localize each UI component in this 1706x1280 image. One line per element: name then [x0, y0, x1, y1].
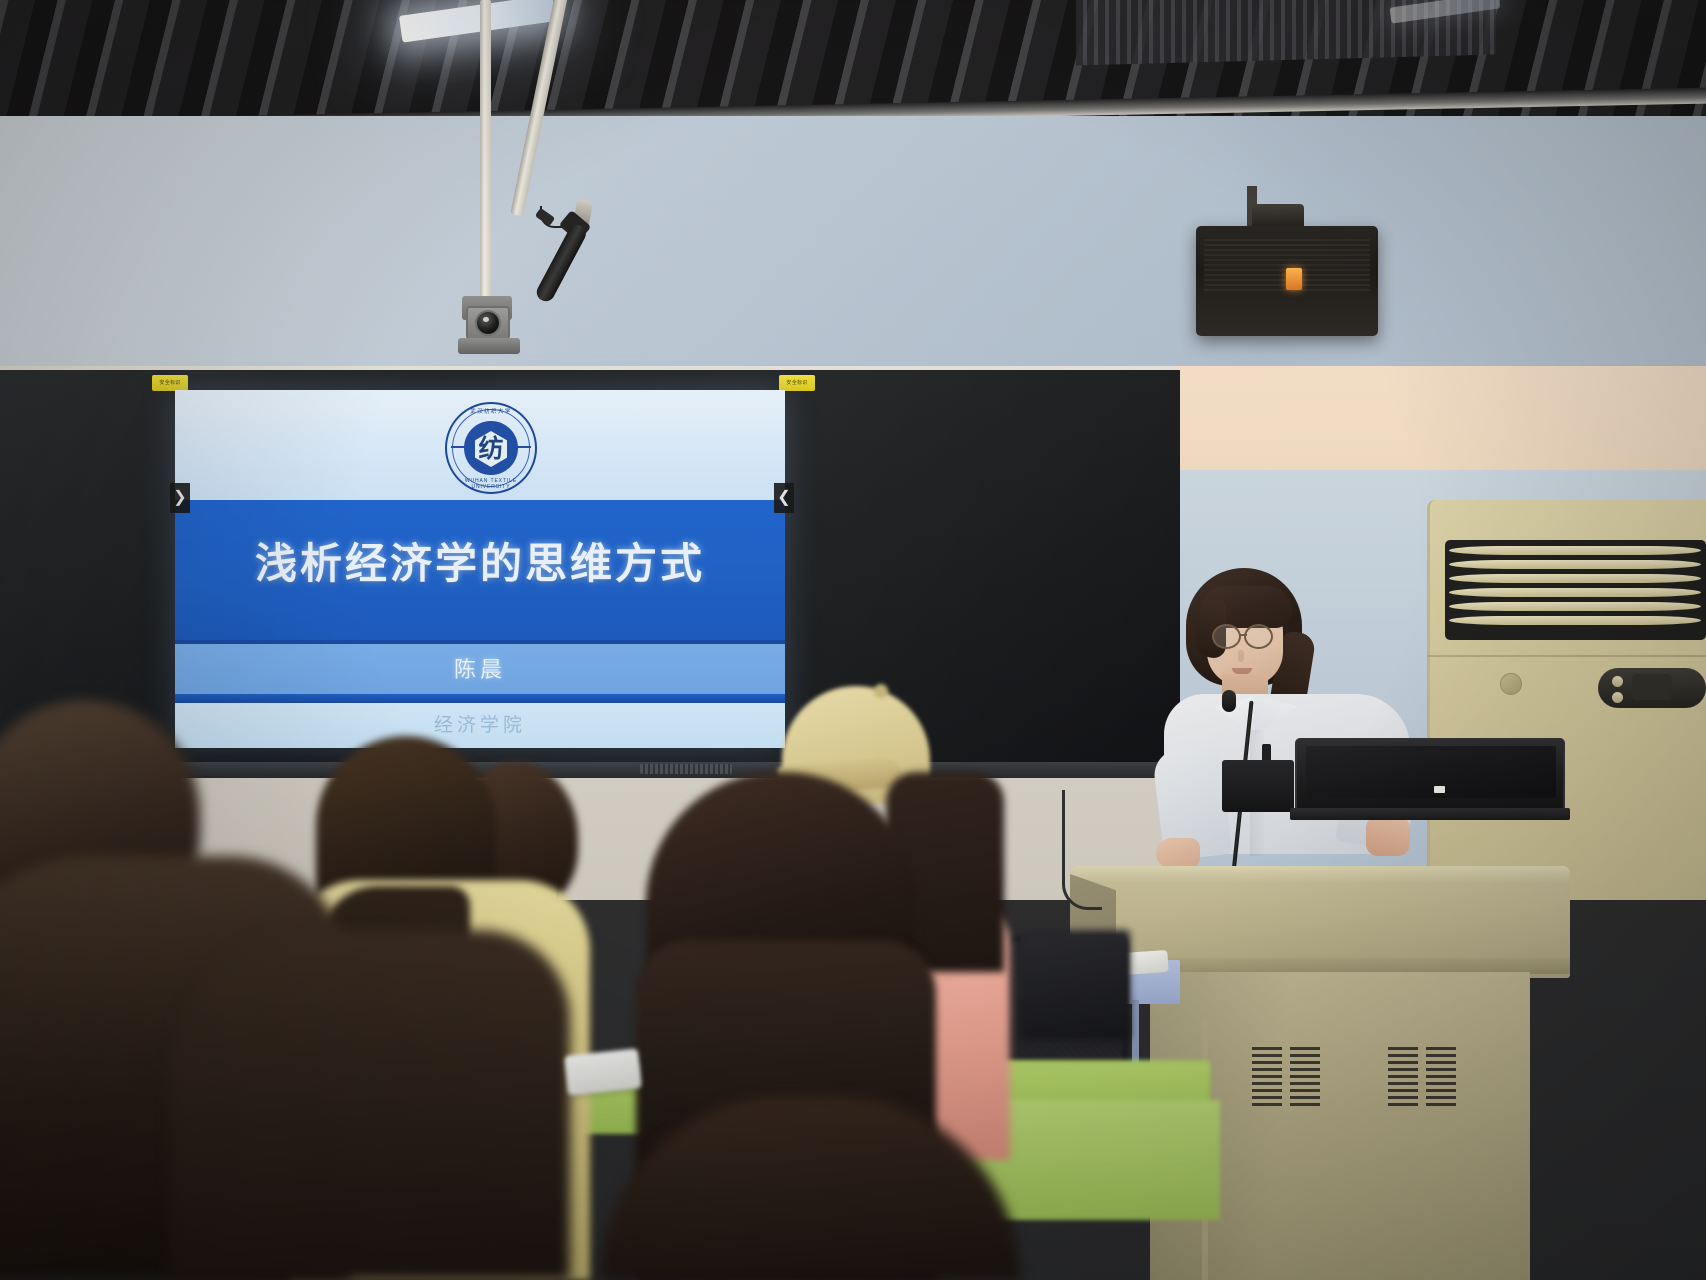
blackboard-speaker-grille: [640, 764, 732, 774]
podium-equipment-box: [1222, 760, 1294, 812]
slide-author-text: 陈晨: [175, 652, 785, 684]
ac-fin: [1449, 602, 1701, 611]
ac-fin: [1449, 588, 1701, 597]
classroom-photo: 安全标识 安全标识 浅析经济学的思维方式 陈晨 经济学院 武汉纺织大学 WUHA…: [0, 0, 1706, 1280]
board-label-sticker-left: 安全标识: [152, 375, 188, 391]
seal-glyph: 纺: [475, 432, 507, 466]
slide-nav-right-icon[interactable]: ❮: [774, 483, 794, 513]
seal-text-english: WUHAN TEXTILE UNIVERSITY: [445, 478, 537, 490]
ac-display: [1632, 674, 1672, 700]
podium-front-lip: [1070, 866, 1570, 882]
ac-fin: [1449, 546, 1701, 555]
slide-divider-rule-2: [175, 694, 785, 703]
speaker-power-led: [1286, 268, 1302, 290]
audience-foreground-left-2: [170, 930, 570, 1280]
presenter-right-forearm: [1366, 816, 1410, 856]
podium-vent-slot: [1388, 1046, 1418, 1106]
gooseneck-mic-capsule-icon: [1222, 690, 1236, 712]
podium-vent-slot: [1252, 1046, 1282, 1106]
floor-cable: [1062, 790, 1102, 910]
presenter: [1160, 562, 1420, 882]
ac-knob[interactable]: [1500, 673, 1522, 695]
slide-nav-left-icon[interactable]: ❯: [170, 483, 190, 513]
ac-button[interactable]: [1612, 676, 1623, 687]
student-laptop-right: [1020, 930, 1130, 1040]
ac-vent-grille: [1445, 540, 1706, 640]
podium-vent-slot: [1426, 1046, 1456, 1106]
ac-fin: [1449, 574, 1701, 583]
camera-lens-icon: [475, 310, 501, 336]
seal-text-chinese: 武汉纺织大学: [445, 407, 537, 415]
ac-fin: [1449, 560, 1701, 569]
laptop-screen: [1306, 746, 1556, 798]
presenter-nose: [1238, 650, 1244, 662]
ac-fin: [1449, 616, 1701, 625]
ac-button[interactable]: [1612, 692, 1623, 703]
laptop-indicator-led: [1434, 786, 1445, 793]
board-label-sticker-right: 安全标识: [779, 375, 815, 391]
laptop-base: [1290, 808, 1570, 820]
ac-panel-seam: [1427, 655, 1706, 657]
eyeglasses-left-lens: [1212, 624, 1241, 649]
camera-base: [458, 338, 520, 354]
slide-title-text: 浅析经济学的思维方式: [175, 530, 785, 591]
podium-vent-slot: [1290, 1046, 1320, 1106]
slide-department-text: 经济学院: [175, 710, 785, 737]
presenter-left-hand: [1156, 838, 1200, 868]
eyeglasses-right-lens: [1244, 624, 1273, 649]
wall-upper: [0, 116, 1706, 371]
camera-mount-pole: [480, 0, 491, 320]
university-seal-logo: 武汉纺织大学 WUHAN TEXTILE UNIVERSITY 纺: [445, 402, 537, 494]
speaker-top-cap: [1252, 204, 1304, 228]
presenter-remote-control[interactable]: [564, 1048, 642, 1096]
wall-peach-band: [1175, 366, 1706, 486]
audience-cap-button: [874, 684, 888, 698]
eyeglasses-bridge: [1239, 634, 1247, 636]
